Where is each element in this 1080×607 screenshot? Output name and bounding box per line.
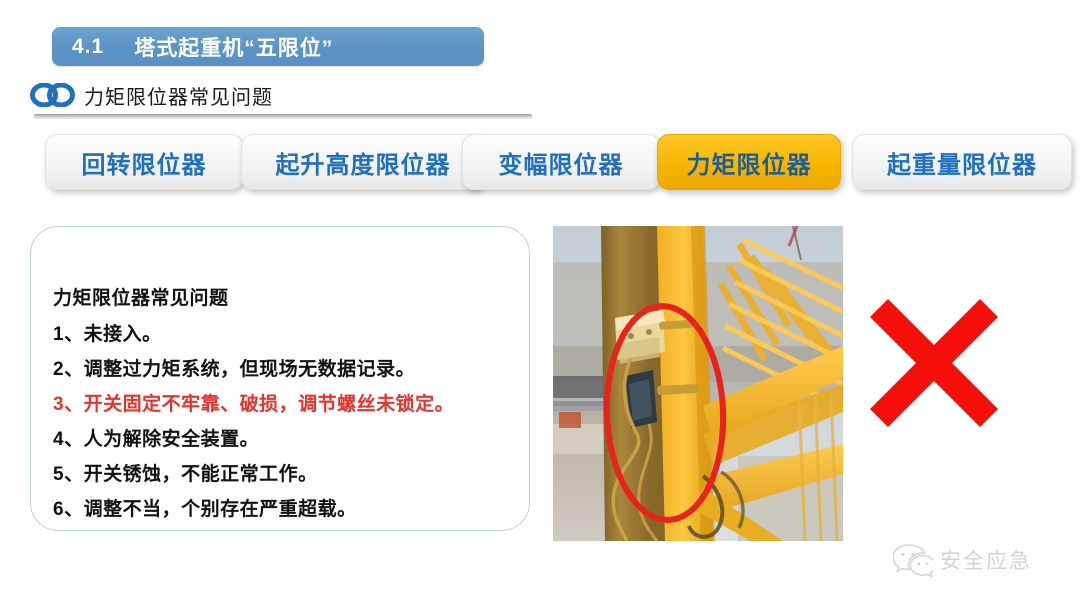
issue-content-card: 力矩限位器常见问题 1、未接入。 2、调整过力矩系统，但现场无数据记录。 3、开… [30,226,530,531]
section-number: 4.1 [72,35,104,59]
section-title-banner: 4.1 塔式起重机“五限位” [52,27,484,66]
tab-label: 起重量限位器 [887,145,1037,180]
tab-load-limiter[interactable]: 起重量限位器 [852,134,1072,190]
wechat-icon [893,543,933,577]
issue-list-heading: 力矩限位器常见问题 [53,283,515,310]
tab-label: 回转限位器 [82,145,207,180]
tab-label: 力矩限位器 [687,145,812,180]
crane-photo [553,226,843,541]
section-title-text: 塔式起重机“五限位” [134,32,333,62]
watermark: 安全应急 [893,543,1032,577]
tab-luffing-limiter[interactable]: 变幅限位器 [462,134,660,190]
subtitle-text: 力矩限位器常见问题 [84,81,273,110]
watermark-text: 安全应急 [940,545,1032,575]
subtitle-row: 力矩限位器常见问题 [30,80,273,110]
reject-cross-icon [868,297,1000,429]
list-item: 3、开关固定不牢靠、破损，调节螺丝未锁定。 [53,389,515,416]
issue-list: 力矩限位器常见问题 1、未接入。 2、调整过力矩系统，但现场无数据记录。 3、开… [53,283,515,529]
dual-circle-icon [30,83,76,107]
limiter-tab-strip: 回转限位器 起升高度限位器 变幅限位器 力矩限位器 起重量限位器 [0,126,1080,200]
list-item: 2、调整过力矩系统，但现场无数据记录。 [53,354,515,381]
list-item: 5、开关锈蚀，不能正常工作。 [53,459,515,486]
tab-label: 变幅限位器 [499,145,624,180]
list-item: 4、人为解除安全装置。 [53,424,515,451]
subtitle-divider [34,114,532,119]
list-item: 6、调整不当，个别存在严重超载。 [53,494,515,521]
list-item: 1、未接入。 [53,319,515,346]
tab-label: 起升高度限位器 [276,145,451,180]
tab-slew-limiter[interactable]: 回转限位器 [45,134,243,190]
tab-hoist-height-limiter[interactable]: 起升高度限位器 [241,134,485,190]
tab-moment-limiter[interactable]: 力矩限位器 [657,134,841,190]
